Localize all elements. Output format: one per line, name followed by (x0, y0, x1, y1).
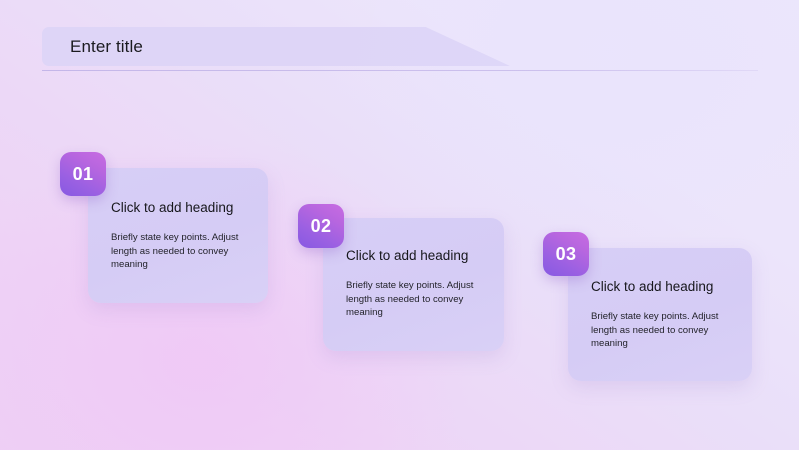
title-banner[interactable]: Enter title (42, 27, 510, 66)
card-number-badge[interactable]: 02 (298, 204, 344, 248)
card-description[interactable]: Briefly state key points. Adjust length … (591, 310, 736, 351)
page-title[interactable]: Enter title (70, 38, 143, 55)
card-description[interactable]: Briefly state key points. Adjust length … (346, 279, 491, 320)
card-number-label: 01 (73, 165, 94, 183)
card-number-label: 03 (556, 245, 577, 263)
card-description[interactable]: Briefly state key points. Adjust length … (111, 231, 256, 272)
card-heading[interactable]: Click to add heading (591, 280, 713, 294)
card-heading[interactable]: Click to add heading (111, 201, 233, 215)
card-number-badge[interactable]: 03 (543, 232, 589, 276)
title-divider (42, 70, 758, 71)
card-number-badge[interactable]: 01 (60, 152, 106, 196)
card-heading[interactable]: Click to add heading (346, 249, 468, 263)
slide-canvas: Enter title 01 Click to add heading Brie… (0, 0, 799, 450)
card-number-label: 02 (311, 217, 332, 235)
